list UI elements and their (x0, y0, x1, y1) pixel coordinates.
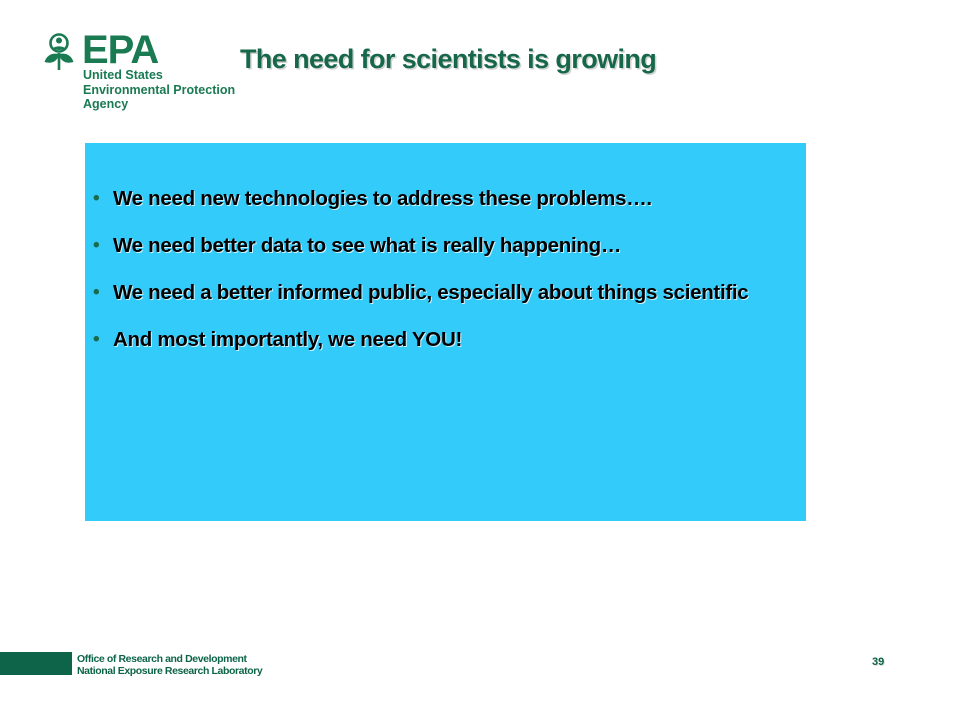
bullet-point-icon: • (93, 279, 113, 306)
epa-wordmark: EPA (82, 28, 158, 72)
list-item: • We need a better informed public, espe… (93, 279, 793, 306)
epa-agency-name: United States Environmental Protection A… (83, 68, 248, 112)
epa-agency-line-1: United States (83, 68, 248, 83)
page-title: The need for scientists is growing (240, 44, 700, 75)
content-panel: • We need new technologies to address th… (85, 143, 806, 521)
list-item: • We need better data to see what is rea… (93, 232, 793, 259)
epa-seal-icon (38, 32, 80, 74)
bullet-point-icon: • (93, 185, 113, 212)
bullet-text: And most importantly, we need YOU! (113, 326, 793, 353)
list-item: • We need new technologies to address th… (93, 185, 793, 212)
epa-agency-line-3: Agency (83, 97, 248, 112)
epa-agency-line-2: Environmental Protection (83, 83, 248, 98)
footer-line-1: Office of Research and Development (77, 653, 262, 665)
bullet-text: We need new technologies to address thes… (113, 185, 793, 212)
bullet-point-icon: • (93, 326, 113, 353)
bullet-point-icon: • (93, 232, 113, 259)
page-number: 39 (872, 656, 884, 668)
bullet-list: • We need new technologies to address th… (93, 185, 793, 373)
footer-accent-bar (0, 652, 72, 675)
bullet-text: We need better data to see what is reall… (113, 232, 793, 259)
list-item: • And most importantly, we need YOU! (93, 326, 793, 353)
epa-logo: EPA United States Environmental Protecti… (38, 30, 238, 110)
bullet-text: We need a better informed public, especi… (113, 279, 793, 306)
footer-line-2: National Exposure Research Laboratory (77, 665, 262, 677)
footer-organization: Office of Research and Development Natio… (77, 653, 262, 677)
